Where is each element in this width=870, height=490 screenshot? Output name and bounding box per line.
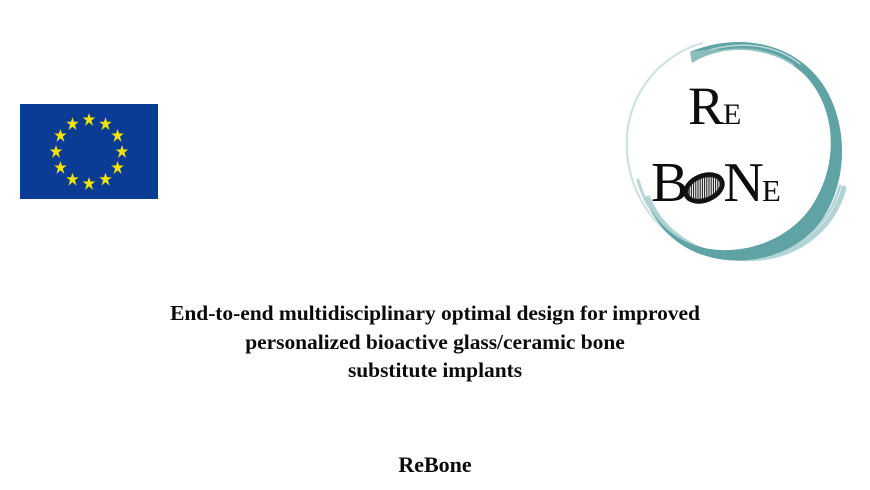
presentation-slide: RE B [0, 0, 870, 490]
rebone-logo: RE B [618, 30, 848, 264]
logo-word-bone: B [651, 155, 781, 211]
logo-re-small: E [723, 98, 741, 131]
slide-title: End-to-end multidisciplinary optimal des… [0, 299, 870, 385]
eu-star [54, 161, 67, 174]
eu-star [54, 129, 67, 142]
logo-bone-n: N [723, 152, 761, 214]
logo-bone-b: B [651, 152, 686, 214]
logo-wordmark: RE B [618, 30, 848, 264]
eu-star-ring [20, 104, 158, 199]
title-line-2: personalized bioactive glass/ceramic bon… [0, 328, 870, 357]
eu-star [99, 117, 112, 130]
european-union-flag [20, 104, 158, 199]
eu-star [83, 113, 96, 126]
eu-star [50, 145, 63, 158]
eu-star [66, 173, 79, 186]
logo-word-re: RE [688, 79, 741, 133]
logo-re-big: R [688, 76, 723, 136]
eu-star [66, 117, 79, 130]
title-line-1: End-to-end multidisciplinary optimal des… [0, 299, 870, 328]
bone-cross-section-o-icon [682, 168, 726, 208]
eu-star [116, 145, 129, 158]
eu-star [111, 129, 124, 142]
eu-star [99, 173, 112, 186]
eu-star [83, 177, 96, 190]
logo-bone-e: E [762, 173, 781, 208]
project-acronym: ReBone [0, 452, 870, 478]
eu-star [111, 161, 124, 174]
title-line-3: substitute implants [0, 356, 870, 385]
